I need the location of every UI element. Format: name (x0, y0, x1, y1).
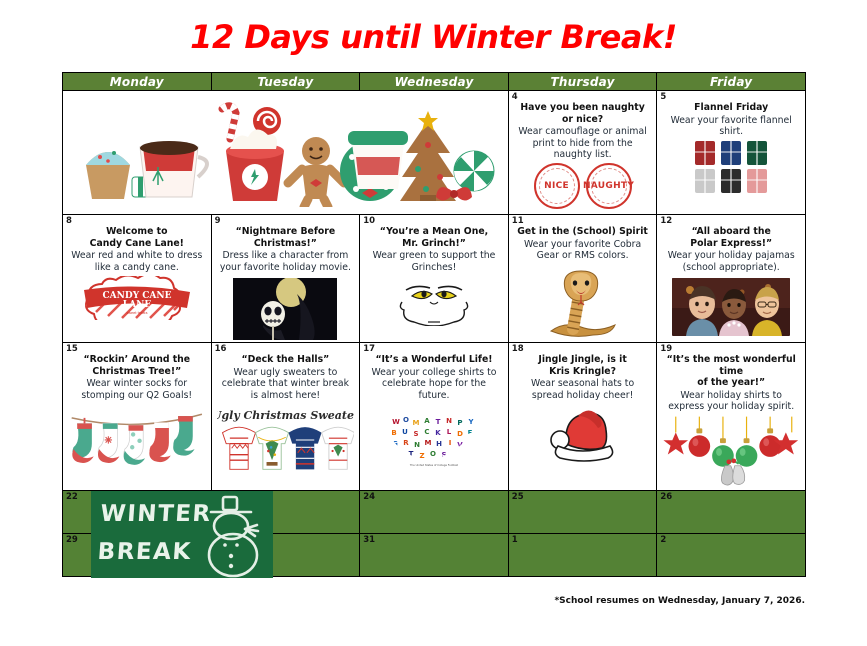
date-number: 26 (660, 492, 672, 502)
cell-body: Wear red and white to dress like a candy… (68, 250, 206, 273)
svg-text:sweet treats: sweet treats (126, 311, 147, 315)
date-number: 12 (660, 216, 672, 226)
day-header-wednesday: Wednesday (360, 73, 509, 91)
date-number: 4 (512, 92, 518, 102)
naughty-stamp-label: NAUGHTY (583, 181, 634, 191)
date-number: 9 (215, 216, 221, 226)
naughty-stamp-icon: NAUGHTY (586, 163, 632, 209)
calendar-cell-26[interactable]: 26 (657, 490, 806, 533)
date-number: 17 (363, 344, 375, 354)
calendar-cell-8[interactable]: 8 Welcome to Candy Cane Lane! Wear red a… (63, 215, 212, 343)
winter-socks-garland-icon (68, 404, 206, 474)
winter-break-banner: WINTER BREAK (91, 491, 273, 578)
winter-break-line1: WINTER (99, 495, 213, 533)
calendar-cell-11[interactable]: 11 Get in the (School) Spirit Wear your … (508, 215, 657, 343)
date-number: 16 (215, 344, 227, 354)
cell-body: Wear holiday shirts to express your holi… (662, 390, 800, 413)
calendar-cell-16[interactable]: 16 “Deck the Halls” Wear ugly sweaters t… (211, 343, 360, 491)
calendar-cell-jan-2[interactable]: 2 (657, 533, 806, 576)
calendar-table: Monday Tuesday Wednesday Thursday Friday (62, 72, 806, 577)
date-number: 1 (512, 535, 518, 545)
cell-headline-line1: “It’s the most wonderful time (662, 354, 800, 377)
winter-break-text: WINTER BREAK (96, 495, 213, 571)
date-number: 22 (66, 492, 78, 502)
svg-text:H: H (436, 440, 442, 448)
svg-text:B: B (391, 429, 396, 437)
day-header-monday: Monday (63, 73, 212, 91)
date-number: 10 (363, 216, 375, 226)
flannel-shirt-red-icon (695, 141, 715, 165)
cell-headline-line1: “Deck the Halls” (217, 354, 355, 366)
svg-text:N: N (414, 441, 420, 449)
flannel-shirts-icon (662, 141, 800, 193)
nice-naughty-stamps-icon: NICE NAUGHTY (514, 163, 652, 209)
cell-body: Wear camouflage or animal print to hide … (514, 126, 652, 161)
svg-text:E: E (468, 440, 473, 448)
cell-headline-line1: “It’s a Wonderful Life! (365, 354, 503, 366)
svg-text:U: U (402, 428, 408, 436)
date-number: 24 (363, 492, 375, 502)
cell-headline-line2: Kris Kringle? (514, 366, 652, 378)
cell-headline-line2: Polar Express!” (662, 238, 800, 250)
svg-text:I: I (449, 439, 452, 447)
school-resumes-note: *School resumes on Wednesday, January 7,… (554, 596, 805, 606)
cell-headline-line1: Jingle Jingle, is it (514, 354, 652, 366)
nice-stamp-label: NICE (544, 181, 569, 191)
date-number: 8 (66, 216, 72, 226)
calendar-cell-19[interactable]: 19 “It’s the most wonderful time of the … (657, 343, 806, 491)
calendar-cell-jan-1[interactable]: 1 (508, 533, 657, 576)
ugly-christmas-sweaters-icon: Ugly Christmas Sweater (217, 404, 355, 476)
grinch-face-icon (394, 280, 474, 326)
flannel-shirt-green-icon (747, 141, 767, 165)
flannel-shirt-gray-icon (695, 169, 715, 193)
svg-text:O: O (403, 416, 409, 424)
calendar-cell-18[interactable]: 18 Jingle Jingle, is it Kris Kringle? We… (508, 343, 657, 491)
page-title: 12 Days until Winter Break! (0, 18, 867, 56)
cell-body: Wear your favorite Cobra Gear or RMS col… (514, 239, 652, 262)
calendar-week-row-4: 22 WINTER BREAK (63, 490, 806, 533)
svg-text:D: D (457, 430, 463, 438)
flannel-shirt-blue-icon (721, 141, 741, 165)
date-number: 25 (512, 492, 524, 502)
svg-text:R: R (403, 439, 409, 447)
college-logos-usa-map-icon: WO MA TN PY BU SC KL DF GR (380, 404, 488, 470)
svg-text:A: A (397, 451, 403, 459)
svg-text:W: W (451, 450, 459, 458)
svg-text:S: S (413, 430, 418, 438)
cell-body: Wear your college shirts to celebrate ho… (365, 367, 503, 402)
cell-body: Wear seasonal hats to spread holiday che… (514, 378, 652, 401)
svg-text:W: W (392, 418, 400, 426)
svg-text:M: M (413, 419, 420, 427)
calendar-cell-12[interactable]: 12 “All aboard the Polar Express!” Wear … (657, 215, 806, 343)
cell-headline-line1: Get in the (School) Spirit (514, 226, 652, 238)
cell-body: Wear ugly sweaters to celebrate that win… (217, 367, 355, 402)
cell-headline-line1: “All aboard the (662, 226, 800, 238)
cell-headline: Flannel Friday (662, 102, 800, 114)
svg-text:Z: Z (419, 452, 424, 460)
svg-text:C: C (424, 428, 429, 436)
calendar-week-row-3: 15 “Rockin’ Around the Christmas Tree!” … (63, 343, 806, 491)
cell-body: Dress like a character from your favorit… (217, 250, 355, 273)
svg-text:LANE: LANE (123, 300, 152, 310)
jack-skellington-photo-icon (233, 278, 337, 340)
cell-headline-line2: Candy Cane Lane! (68, 238, 206, 250)
svg-text:Y: Y (467, 418, 474, 426)
calendar-cell-22[interactable]: 22 WINTER BREAK (63, 490, 212, 533)
calendar-cell-5[interactable]: 5 Flannel Friday Wear your favorite flan… (657, 91, 806, 215)
svg-text:O: O (430, 450, 436, 458)
svg-text:F: F (468, 429, 473, 437)
calendar-week-row-2: 8 Welcome to Candy Cane Lane! Wear red a… (63, 215, 806, 343)
nice-stamp-icon: NICE (534, 163, 580, 209)
cell-headline-line2: Christmas Tree!” (68, 366, 206, 378)
cell-headline-line2: Christmas!” (217, 238, 355, 250)
date-number: 29 (66, 535, 78, 545)
calendar-header-row: Monday Tuesday Wednesday Thursday Friday (63, 73, 806, 91)
calendar-cell-31[interactable]: 31 (360, 533, 509, 576)
date-number: 5 (660, 92, 666, 102)
svg-text:L: L (447, 428, 452, 436)
cell-headline-line1: “Nightmare Before (217, 226, 355, 238)
flannel-shirt-pink-icon (747, 169, 767, 193)
date-number: 18 (512, 344, 524, 354)
date-number: 15 (66, 344, 78, 354)
cell-headline-line1: “Rockin’ Around the (68, 354, 206, 366)
svg-text:A: A (424, 417, 430, 425)
svg-text:N: N (446, 417, 452, 425)
holiday-treats-banner-icon (70, 99, 500, 207)
cell-headline: Have you been naughty or nice? (514, 102, 652, 125)
calendar-cell-24[interactable]: 24 (360, 490, 509, 533)
cell-headline-line1: Welcome to (68, 226, 206, 238)
cell-headline-line1: “You’re a Mean One, (365, 226, 503, 238)
santa-hat-icon (548, 406, 618, 462)
calendar-cell-17[interactable]: 17 “It’s a Wonderful Life! Wear your col… (360, 343, 509, 491)
svg-text:V: V (457, 441, 463, 449)
polar-express-photo-icon (672, 278, 790, 336)
calendar-cell-banner[interactable] (63, 91, 509, 215)
date-number: 2 (660, 535, 666, 545)
cobra-snake-icon (543, 265, 623, 339)
day-header-tuesday: Tuesday (211, 73, 360, 91)
calendar-cell-9[interactable]: 9 “Nightmare Before Christmas!” Dress li… (211, 215, 360, 343)
date-number: 31 (363, 535, 375, 545)
svg-text:M: M (425, 439, 432, 447)
svg-text:G: G (392, 440, 398, 448)
svg-text:K: K (435, 429, 441, 437)
cell-body: Wear winter socks for stomping our Q2 Go… (68, 378, 206, 401)
calendar-page: 12 Days until Winter Break! Monday Tuesd… (0, 0, 867, 646)
date-number: 11 (512, 216, 524, 226)
cell-headline-line2: of the year!” (662, 377, 800, 389)
calendar-week-row-1: 4 Have you been naughty or nice? Wear ca… (63, 91, 806, 215)
day-header-thursday: Thursday (508, 73, 657, 91)
cell-body: Wear green to support the Grinches! (365, 250, 503, 273)
svg-text:P: P (457, 419, 462, 427)
hanging-ornaments-icon (662, 416, 800, 488)
calendar-cell-10[interactable]: 10 “You’re a Mean One, Mr. Grinch!” Wear… (360, 215, 509, 343)
ugly-sweater-text: Ugly Christmas Sweater (217, 409, 355, 422)
calendar-cell-4[interactable]: 4 Have you been naughty or nice? Wear ca… (508, 91, 657, 215)
svg-text:T: T (409, 450, 414, 458)
date-number: 19 (660, 344, 672, 354)
svg-text:The United States of College F: The United States of College Football (410, 463, 458, 467)
calendar-cell-25[interactable]: 25 (508, 490, 657, 533)
candy-cane-lane-logo-icon: CANDY CANE LANE sweet treats (78, 276, 196, 320)
cell-headline-line2: Mr. Grinch!” (365, 238, 503, 250)
snowman-icon (197, 493, 271, 578)
calendar-cell-15[interactable]: 15 “Rockin’ Around the Christmas Tree!” … (63, 343, 212, 491)
day-header-friday: Friday (657, 73, 806, 91)
cell-body: Wear your holiday pajamas (school approp… (662, 250, 800, 273)
cell-body: Wear your favorite flannel shirt. (662, 115, 800, 138)
svg-text:S: S (441, 451, 446, 459)
svg-text:T: T (436, 418, 441, 426)
flannel-shirt-black-icon (721, 169, 741, 193)
winter-break-line2: BREAK (96, 533, 210, 571)
